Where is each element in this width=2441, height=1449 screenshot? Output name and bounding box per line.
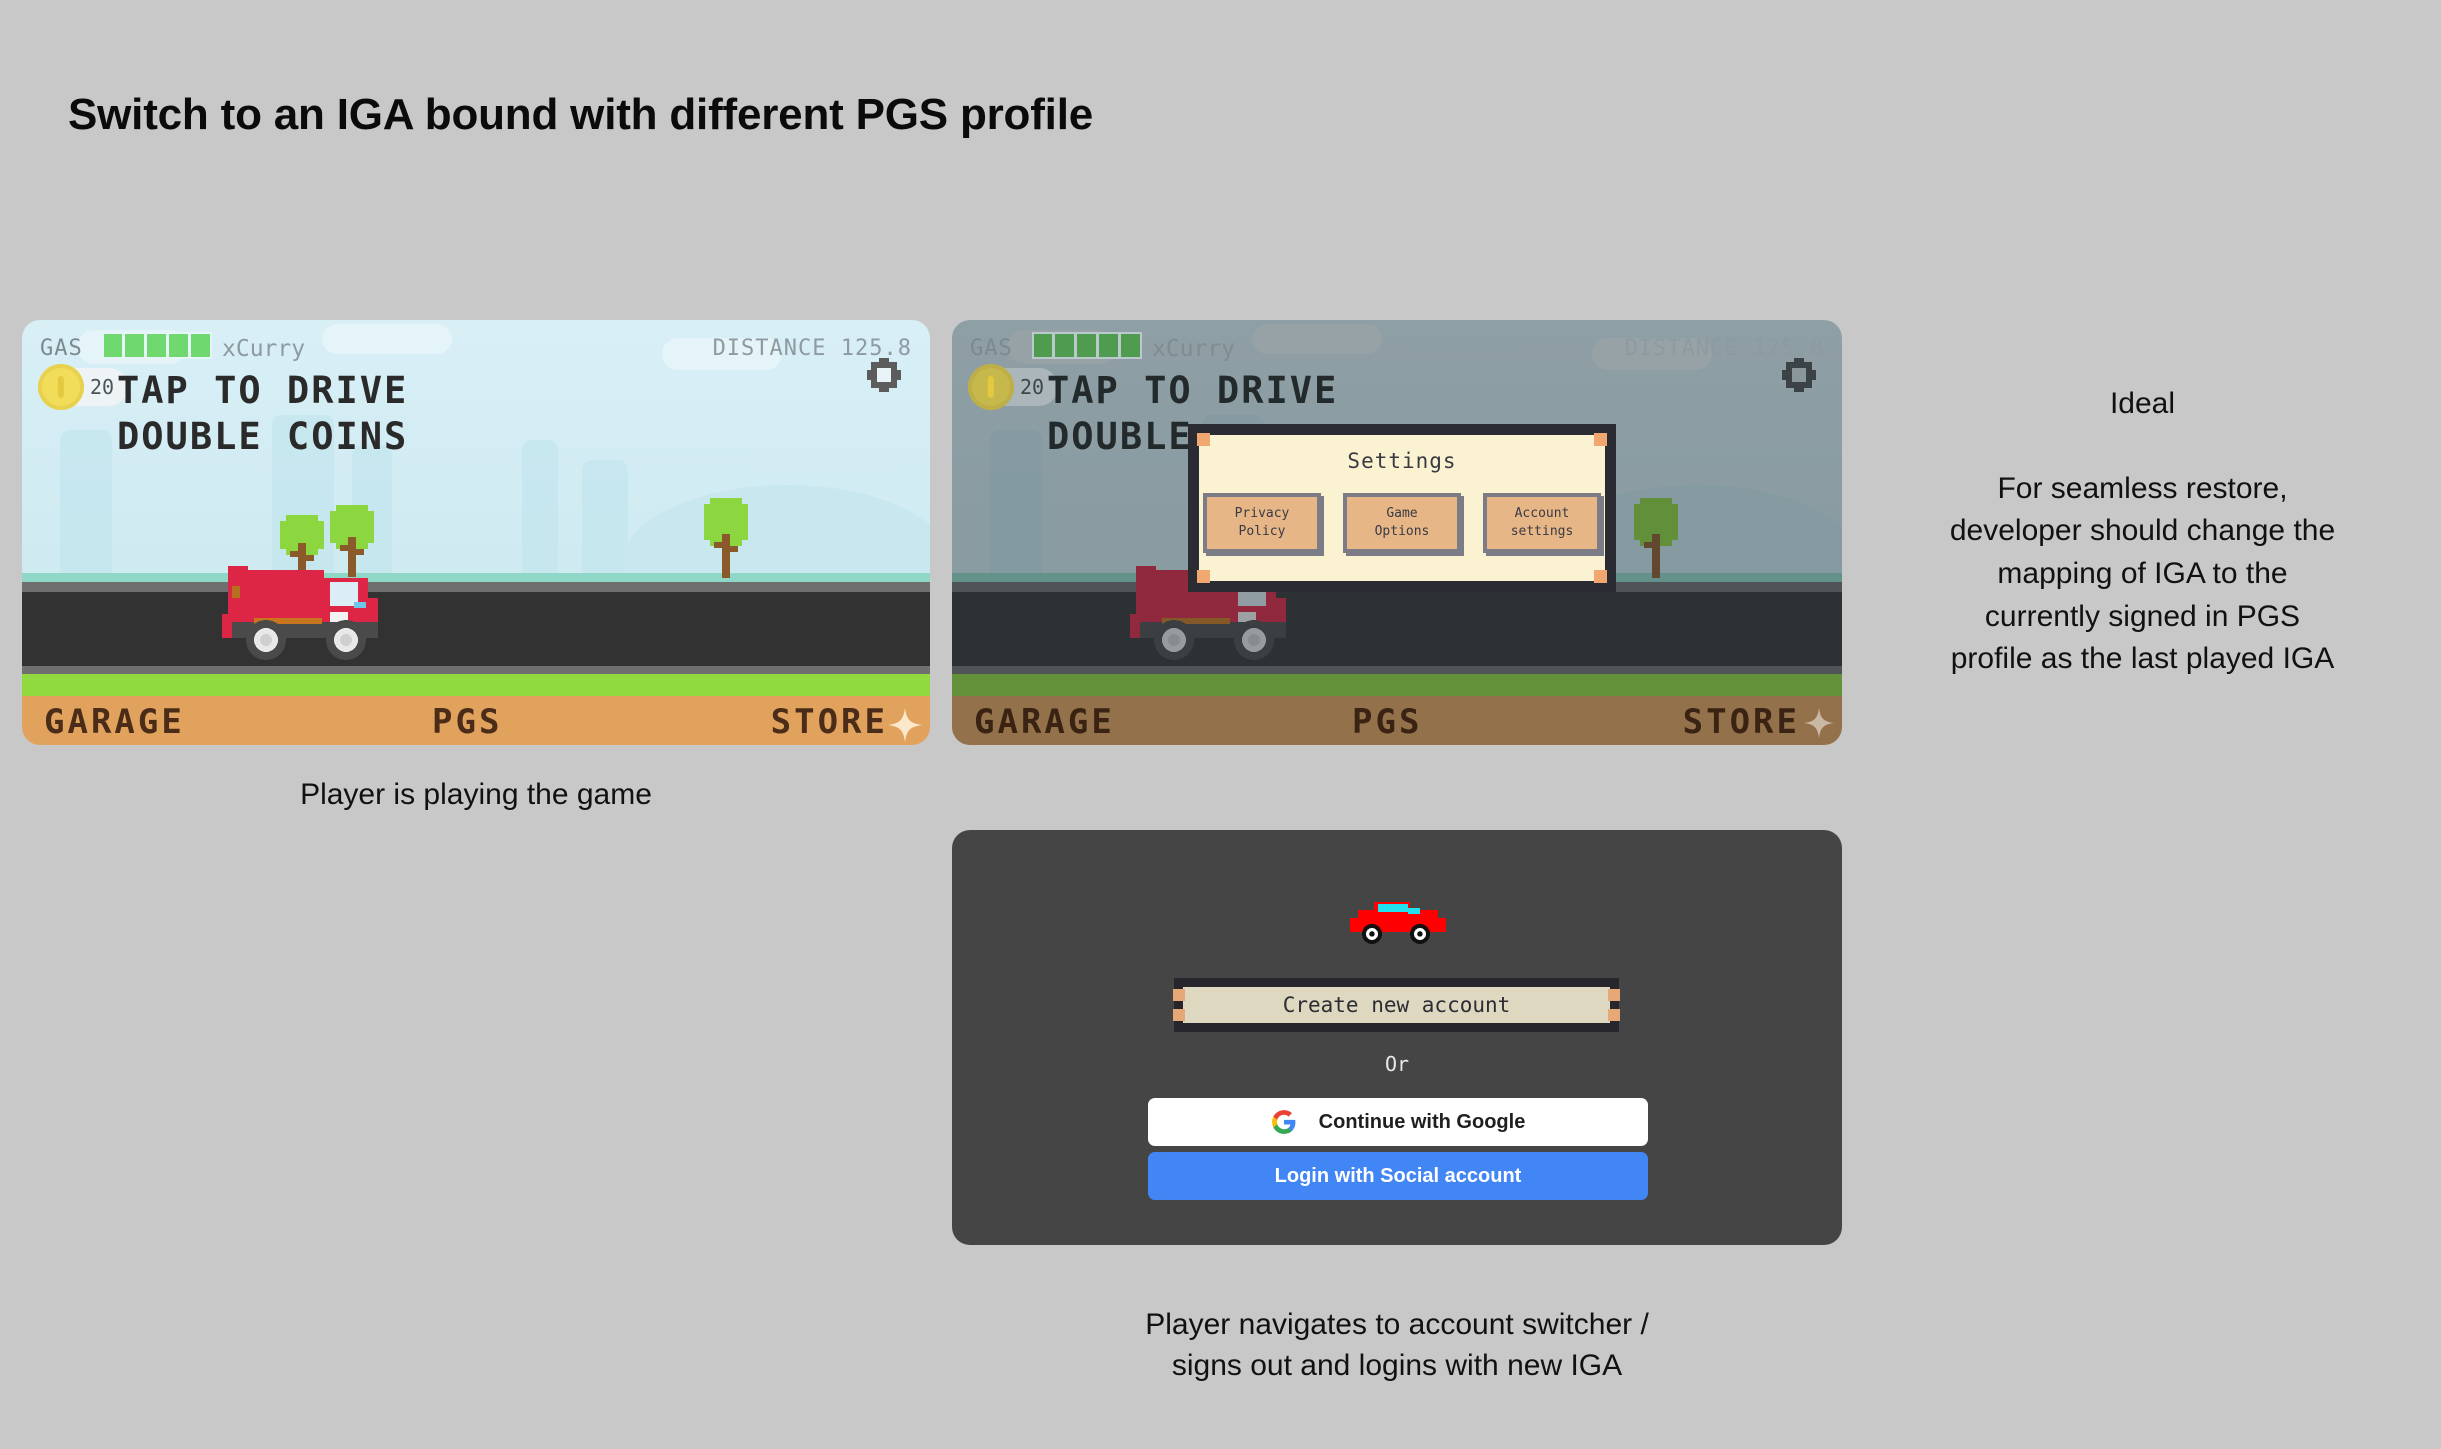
building-shape <box>582 460 628 575</box>
username-label: xCurry <box>222 336 305 362</box>
building-shape <box>522 440 558 575</box>
or-divider-label: Or <box>952 1052 1842 1076</box>
road-edge-bottom <box>22 666 930 674</box>
ideal-note: Ideal For seamless restore, developer sh… <box>1865 340 2420 723</box>
gas-bar <box>102 332 212 359</box>
truck-sprite <box>222 562 440 662</box>
coin-icon <box>38 364 84 410</box>
privacy-policy-button[interactable]: Privacy Policy <box>1203 493 1321 553</box>
username-label: xCurry <box>1152 336 1235 362</box>
cloud-shape <box>322 324 452 354</box>
horizon-strip <box>22 573 930 582</box>
nav-store[interactable]: STORE <box>1683 702 1800 742</box>
dialog-corner-accent <box>1594 570 1607 583</box>
settings-dialog[interactable]: Settings Privacy Policy Game Options Acc… <box>1192 428 1612 588</box>
caption-playing: Player is playing the game <box>22 775 930 816</box>
login-with-social-label: Login with Social account <box>1275 1165 1522 1188</box>
account-settings-button[interactable]: Account settings <box>1483 493 1601 553</box>
dialog-corner-accent <box>1197 570 1210 583</box>
continue-with-google-button[interactable]: Continue with Google <box>1148 1098 1648 1146</box>
game-options-button[interactable]: Game Options <box>1343 493 1461 553</box>
coin-icon <box>968 364 1014 410</box>
settings-dialog-title: Settings <box>1199 449 1605 473</box>
tap-to-drive-text: TAP TO DRIVE DOUBLE COINS <box>117 368 408 461</box>
dialog-corner-accent <box>1197 433 1210 446</box>
pixel-car-icon <box>1342 898 1452 946</box>
building-shape <box>60 430 112 575</box>
create-new-account-button[interactable]: Create new account <box>1174 978 1619 1032</box>
game-settings-panel[interactable]: GAS xCurry DISTANCE 125.8 20 TAP TO DRIV… <box>952 320 1842 745</box>
dialog-corner-accent <box>1594 433 1607 446</box>
nav-pgs[interactable]: PGS <box>1352 702 1422 742</box>
button-corner-accent <box>1173 989 1185 1001</box>
road-edge-top <box>22 582 930 592</box>
nav-pgs[interactable]: PGS <box>432 702 502 742</box>
page-title: Switch to an IGA bound with different PG… <box>68 90 1093 140</box>
slide-root: Switch to an IGA bound with different PG… <box>0 0 2441 1449</box>
button-corner-accent <box>1173 1009 1185 1021</box>
gas-bar <box>1032 332 1142 359</box>
caption-account-switcher: Player navigates to account switcher / s… <box>952 1305 1842 1386</box>
gear-icon[interactable] <box>1782 358 1816 392</box>
google-g-icon <box>1271 1109 1297 1135</box>
gas-label: GAS <box>970 336 1013 361</box>
sparkle-icon <box>888 708 922 742</box>
game-playing-panel[interactable]: GAS xCurry DISTANCE 125.8 20 TAP TO DRIV… <box>22 320 930 745</box>
sparkle-icon <box>1804 708 1834 738</box>
road-surface <box>22 592 930 666</box>
nav-garage[interactable]: GARAGE <box>44 702 185 742</box>
tree-icon <box>698 498 754 578</box>
button-corner-accent <box>1608 989 1620 1001</box>
ideal-body: For seamless restore, developer should c… <box>1865 468 2420 681</box>
coin-count: 20 <box>90 375 114 399</box>
hill-shape <box>622 485 930 580</box>
gas-label: GAS <box>40 336 83 361</box>
nav-garage[interactable]: GARAGE <box>974 702 1115 742</box>
continue-with-google-label: Continue with Google <box>1319 1111 1526 1134</box>
coin-count: 20 <box>1020 375 1044 399</box>
button-corner-accent <box>1608 1009 1620 1021</box>
nav-store[interactable]: STORE <box>771 702 888 742</box>
account-switcher-panel[interactable]: Create new account Or Continue with Goog… <box>952 830 1842 1245</box>
gear-icon[interactable] <box>867 358 901 392</box>
settings-button-row: Privacy Policy Game Options Account sett… <box>1199 493 1605 553</box>
login-with-social-button[interactable]: Login with Social account <box>1148 1152 1648 1200</box>
create-new-account-label: Create new account <box>1283 993 1511 1017</box>
ideal-heading: Ideal <box>1865 383 2420 426</box>
